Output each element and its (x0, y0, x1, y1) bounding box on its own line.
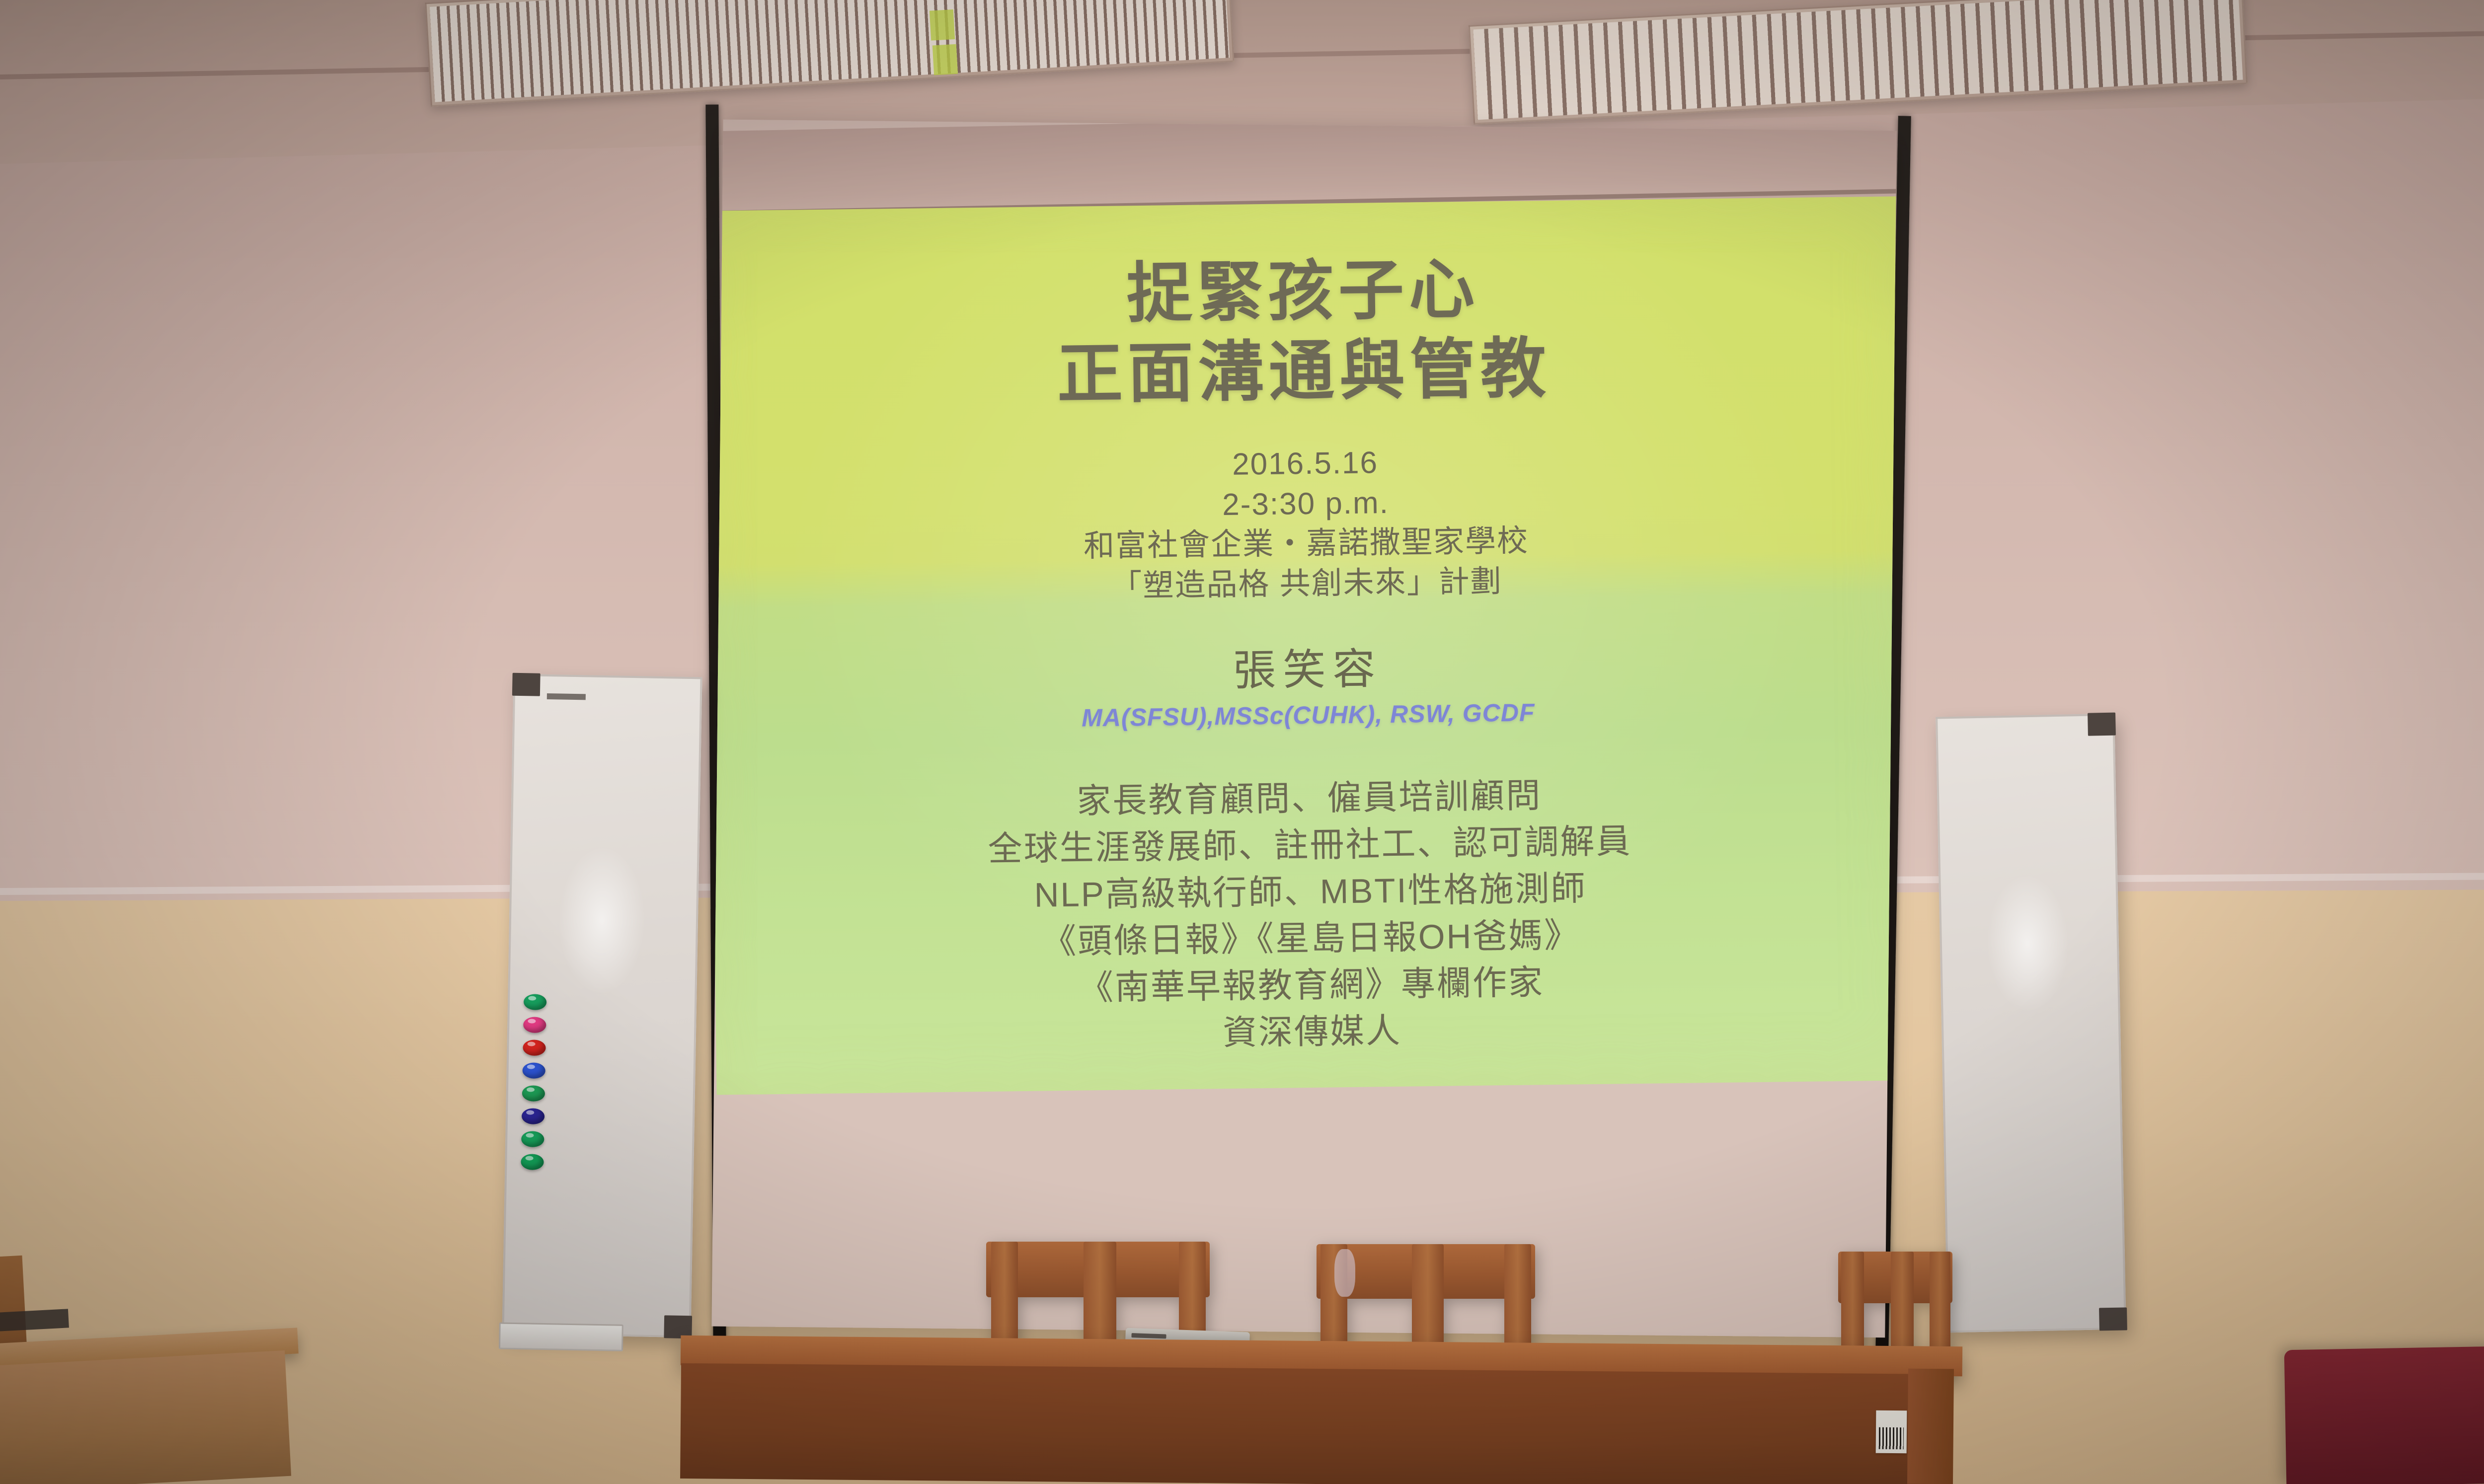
whiteboard-magnet[interactable] (524, 994, 547, 1010)
whiteboard-glare (1986, 876, 2069, 1012)
slide-role-line: 全球生涯發展師、註冊社工、認可調解員 (988, 818, 1632, 873)
whiteboard-magnet[interactable] (522, 1108, 545, 1124)
slide-speaker-name: 張笑容 (1233, 634, 1383, 698)
projected-slide: 捉緊孩子心 正面溝通與管教 2016.5.16 2-3:30 p.m. 和富社會… (711, 196, 1896, 1095)
whiteboard-brand-label (547, 693, 586, 700)
slide-role-line: 《頭條日報》《星島日報OH爸媽》 (1042, 912, 1580, 965)
whiteboard-magnet[interactable] (523, 1039, 546, 1056)
slide-role-line: NLP高級執行師、MBTI性格施測師 (1034, 865, 1587, 918)
whiteboard-left (502, 674, 702, 1337)
light-reflection (932, 44, 958, 75)
barcode-icon (1879, 1427, 1904, 1449)
screen-surface: 捉緊孩子心 正面溝通與管教 2016.5.16 2-3:30 p.m. 和富社會… (711, 120, 1896, 1338)
whiteboard-bracket (512, 673, 541, 696)
whiteboard-magnet[interactable] (523, 1017, 546, 1033)
whiteboard-magnet[interactable] (522, 1062, 545, 1079)
projection-screen: 捉緊孩子心 正面溝通與管教 2016.5.16 2-3:30 p.m. 和富社會… (679, 104, 1947, 1373)
slide-date: 2016.5.16 (1232, 443, 1379, 485)
presenter-table-apron (680, 1363, 1953, 1484)
whiteboard-magnet[interactable] (521, 1154, 544, 1170)
slide-organizers: 和富社會企業‧嘉諾撒聖家學校 (1084, 521, 1529, 567)
chair-highlight (1334, 1249, 1355, 1297)
remote-label-icon (1131, 1333, 1166, 1338)
asset-barcode-label (1876, 1410, 1907, 1454)
whiteboard-magnet[interactable] (521, 1131, 544, 1147)
whiteboard-magnet[interactable] (522, 1085, 545, 1102)
whiteboard-right (1936, 714, 2126, 1333)
whiteboard-glare (558, 847, 645, 993)
slide-role-line: 資深傳媒人 (1223, 1007, 1402, 1056)
slide-role-line: 《南華早報教育網》專欄作家 (1079, 959, 1544, 1011)
maroon-upholstered-chair (2284, 1344, 2484, 1484)
classroom-photo: 捉緊孩子心 正面溝通與管教 2016.5.16 2-3:30 p.m. 和富社會… (0, 0, 2484, 1484)
slide-speaker-credentials: MA(SFSU),MSSc(CUHK), RSW, GCDF (1082, 698, 1535, 733)
presenter-table-leg (1907, 1369, 1954, 1484)
lectern-body (0, 1350, 291, 1484)
whiteboard-pen-tray (499, 1322, 623, 1351)
whiteboard-bracket (2099, 1307, 2127, 1331)
slide-time: 2-3:30 p.m. (1222, 483, 1390, 525)
slide-programme: 「塑造品格 共創未來」計劃 (1111, 562, 1502, 606)
slide-role-line: 家長教育顧問、僱員培訓顧問 (1077, 773, 1542, 825)
light-reflection (930, 9, 955, 41)
slide-title-line2: 正面溝通與管教 (1057, 328, 1552, 414)
slide-title-line1: 捉緊孩子心 (1126, 249, 1480, 334)
magnet-strip (521, 994, 546, 1177)
whiteboard-bracket (2088, 713, 2116, 736)
